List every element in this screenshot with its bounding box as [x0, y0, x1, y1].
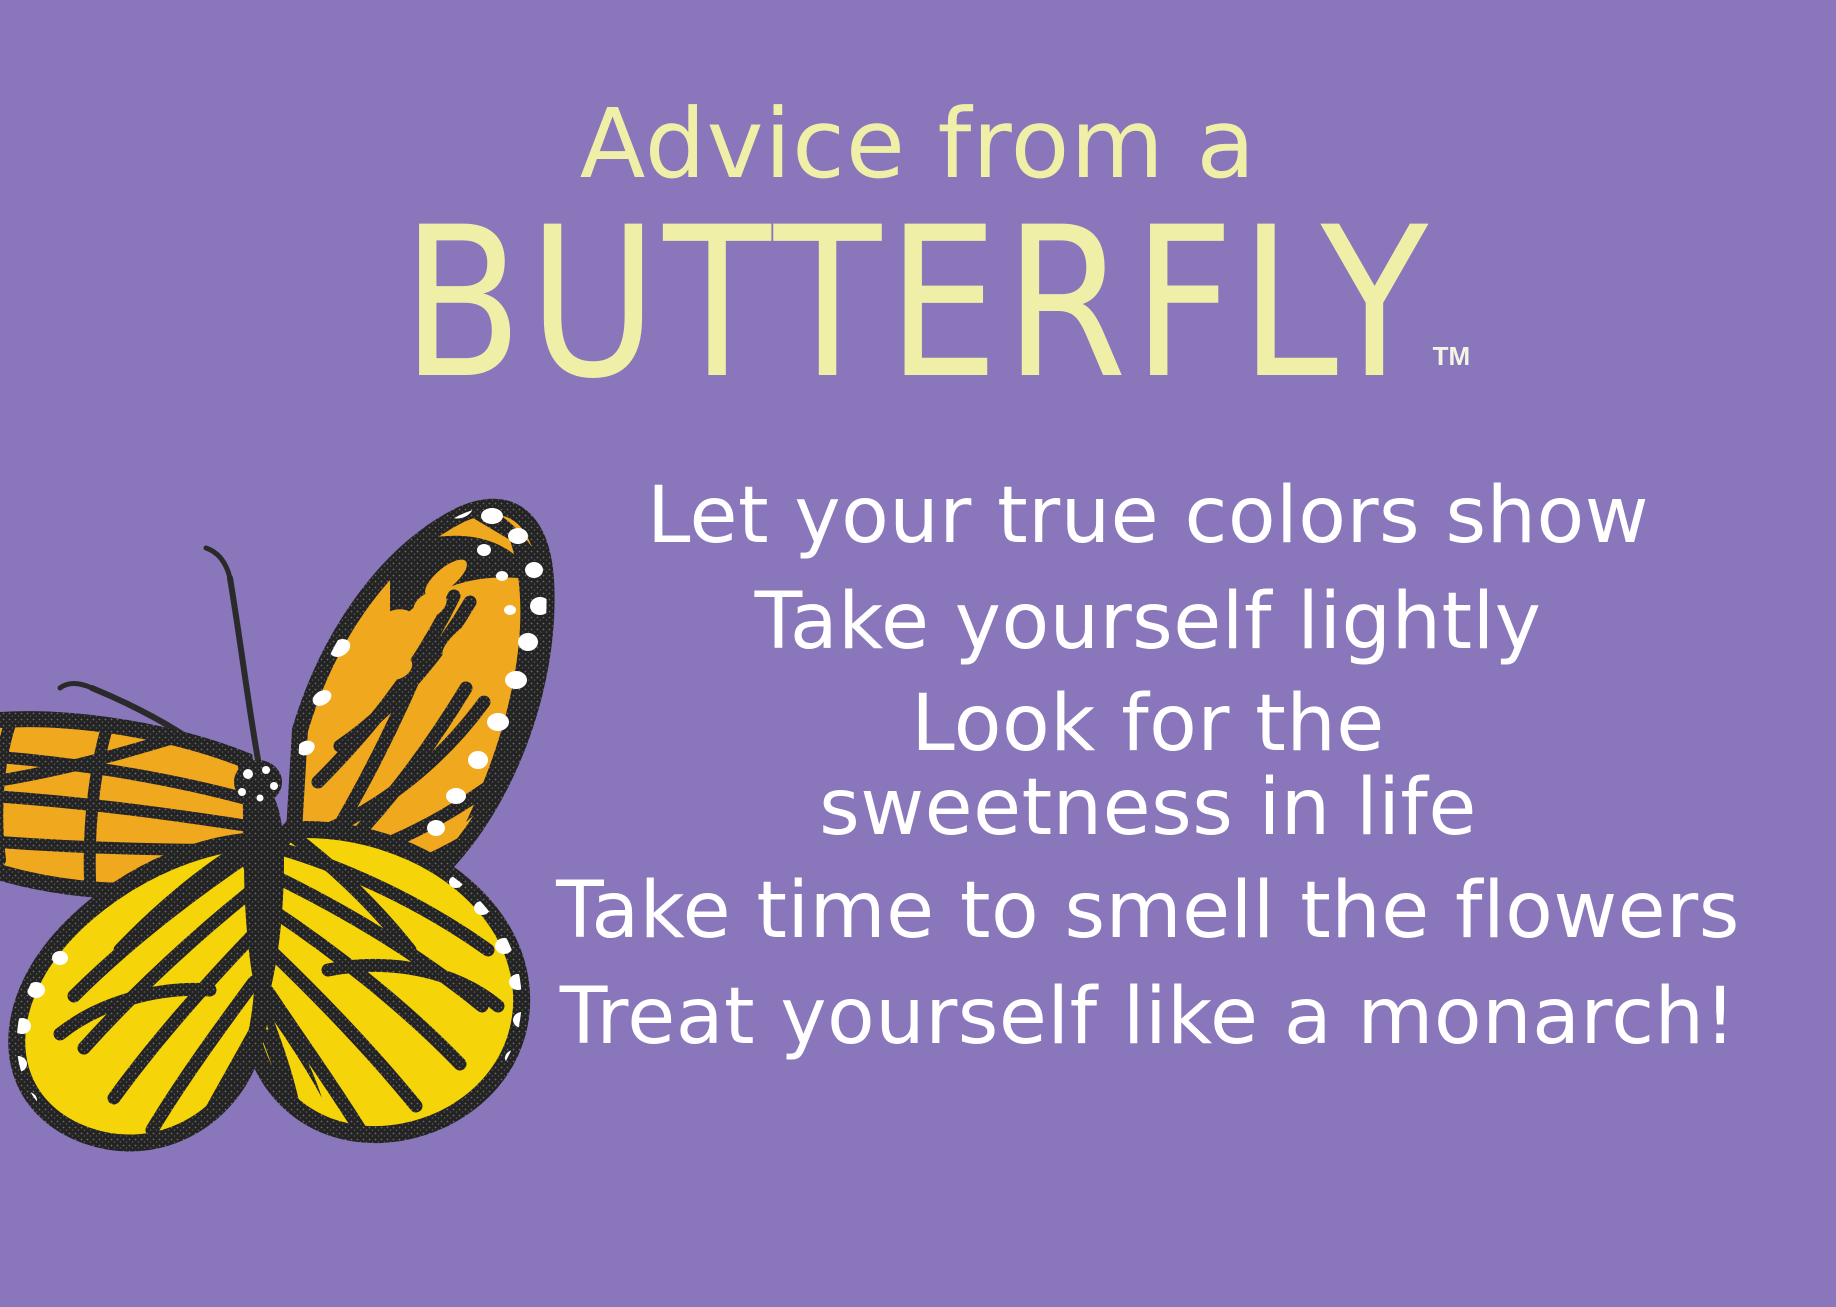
advice-from-a-butterfly-poster: Advice from a BUTTERFLY TM Let your true…	[0, 0, 1836, 1307]
advice-item-5: Treat yourself like a monarch!	[520, 971, 1776, 1063]
lower-right-wing	[245, 830, 531, 1152]
title-butterfly-wrap: BUTTERFLY TM	[402, 198, 1434, 378]
advice-item-3-line-1: Look for the	[520, 682, 1776, 766]
wing-white-spots	[295, 494, 550, 836]
advice-item-3: Look for the sweetness in life	[520, 682, 1776, 850]
page-title: BUTTERFLY	[402, 198, 1434, 410]
advice-item-3-line-2: sweetness in life	[520, 766, 1776, 850]
advice-item-4: Take time to smell the flowers	[520, 865, 1776, 957]
advice-list: Let your true colors show Take yourself …	[520, 470, 1776, 1077]
butterfly-body	[234, 760, 322, 1106]
kicker-advice-from-a: Advice from a	[0, 96, 1836, 192]
advice-item-1: Let your true colors show	[520, 470, 1776, 562]
trademark-symbol: TM	[1433, 341, 1471, 372]
upper-left-wing	[0, 718, 255, 891]
title-block: Advice from a BUTTERFLY TM	[0, 0, 1836, 378]
advice-item-2: Take yourself lightly	[520, 576, 1776, 668]
lower-left-wing	[9, 842, 264, 1164]
butterfly-antennae	[60, 548, 262, 786]
